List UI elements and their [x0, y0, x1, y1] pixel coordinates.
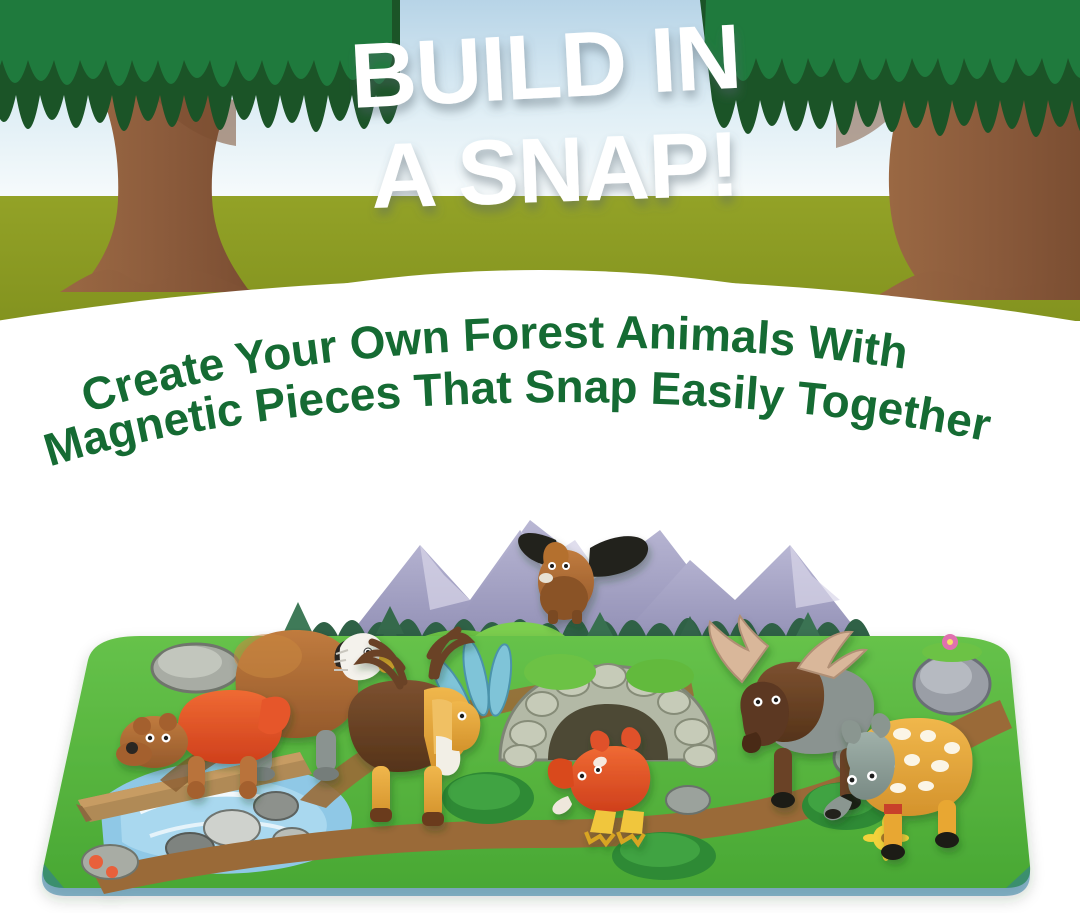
- product-photo: [0, 0, 1080, 913]
- promo-banner: BUILD IN A SNAP! Create Your Own Forest …: [0, 0, 1080, 913]
